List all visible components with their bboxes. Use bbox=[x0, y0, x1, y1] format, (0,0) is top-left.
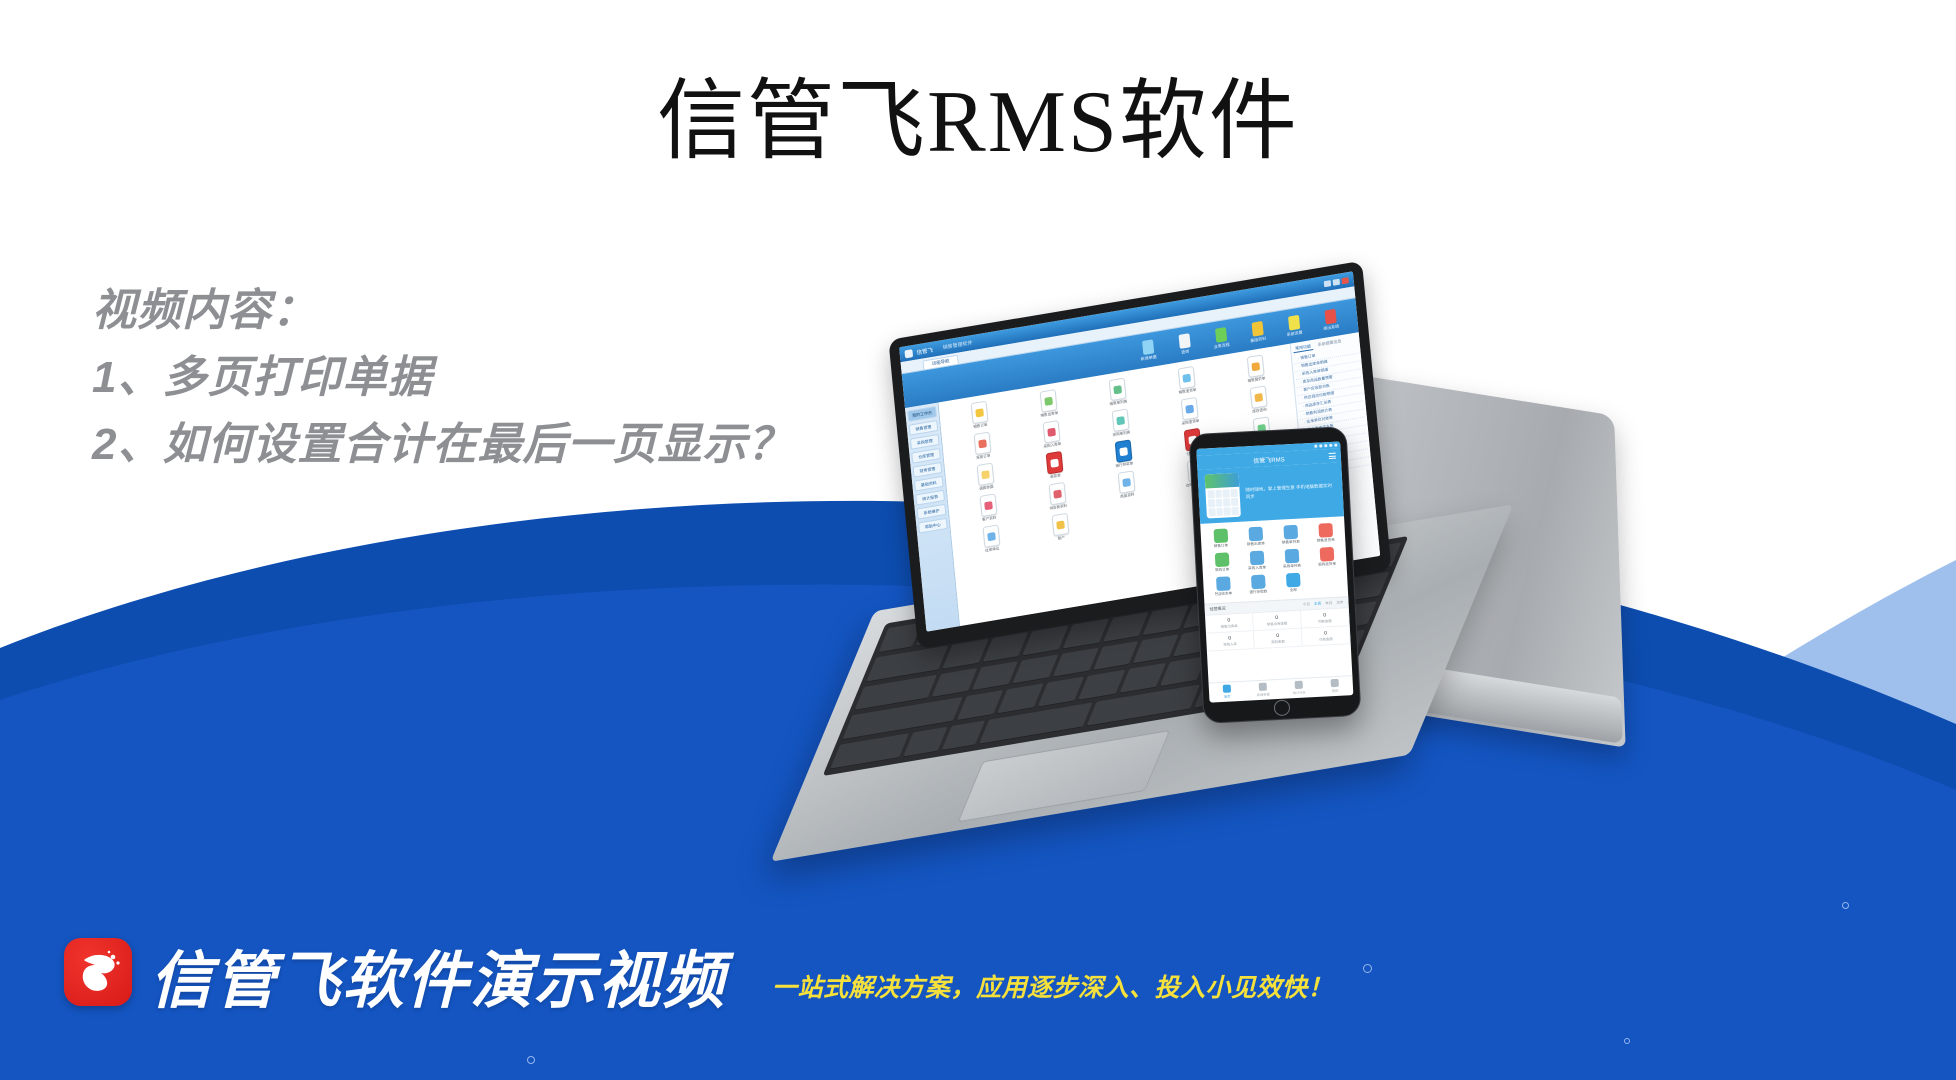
phone-grid-item[interactable]: 全部 bbox=[1275, 572, 1311, 594]
icon-card bbox=[973, 432, 991, 456]
icon-card bbox=[1039, 389, 1057, 413]
icon-card bbox=[1114, 439, 1132, 463]
toolbar-label: 查询 bbox=[1181, 348, 1189, 355]
icon-card bbox=[976, 463, 994, 487]
phone-grid-icon bbox=[1249, 551, 1264, 566]
phone-tab[interactable]: 统计分析 bbox=[1281, 680, 1318, 696]
phone-grid-item[interactable]: 采购退货单 bbox=[1309, 546, 1345, 568]
content-heading: 视频内容： bbox=[92, 278, 792, 345]
phone-tab[interactable]: 我的 bbox=[1317, 678, 1354, 694]
icon-label: 库存查询 bbox=[1252, 407, 1267, 414]
icon-card bbox=[1051, 513, 1069, 537]
stat-cell: 0采购金额 bbox=[1254, 629, 1303, 649]
phone-icon-grid: 销售订单销售出库单销售单列表销售退货单采购订单采购入库单采购单列表采购退货单현금… bbox=[1200, 516, 1348, 603]
phone-grid-label: 销售退货单 bbox=[1317, 538, 1335, 544]
toolbar-button[interactable]: 系统设置 bbox=[1280, 313, 1308, 338]
section-filters[interactable]: 今日本周本月本年 bbox=[1303, 600, 1344, 607]
signal-icon bbox=[1329, 444, 1332, 447]
decorative-dot bbox=[1363, 964, 1372, 973]
toolbar-label: 业务流程 bbox=[1213, 341, 1229, 350]
phone-tab-label: 统计分析 bbox=[1293, 690, 1306, 696]
icon-card bbox=[1249, 385, 1267, 409]
phone-hero: 随时随地，掌上管理生意 手机电脑数据实时同步 bbox=[1197, 462, 1344, 523]
phone-tab-icon bbox=[1331, 679, 1339, 687]
phone-grid-label: 采购退货单 bbox=[1318, 562, 1336, 568]
icon-card bbox=[1180, 397, 1198, 421]
phone-grid-item[interactable]: 采购单列表 bbox=[1274, 548, 1310, 570]
stat-label: 付款金额 bbox=[1302, 635, 1349, 642]
brand-tagline: 一站式解决方案，应用逐步深入、投入小见效快！ bbox=[772, 968, 1333, 1004]
section-filter[interactable]: 今日 bbox=[1303, 602, 1310, 607]
function-icon[interactable]: 往来单位 bbox=[957, 520, 1026, 558]
toolbar-icon bbox=[1178, 333, 1190, 349]
sidebar-item[interactable]: 统计报表 bbox=[915, 490, 945, 506]
phone-grid-label: 采购入库单 bbox=[1248, 565, 1266, 571]
content-item-2: 2、如何设置合计在最后一页显示？ bbox=[92, 412, 792, 479]
icon-label: 客户资料 bbox=[982, 516, 997, 523]
icon-card bbox=[1048, 482, 1066, 506]
bluetooth-icon bbox=[1314, 445, 1317, 448]
function-icon[interactable]: 账户 bbox=[1026, 509, 1095, 547]
phone-grid-item[interactable]: 销售出库单 bbox=[1237, 526, 1273, 548]
icon-card bbox=[1042, 420, 1060, 444]
minimize-icon[interactable] bbox=[1324, 280, 1331, 287]
stat-label: 采购金额 bbox=[1254, 638, 1301, 645]
phone-grid-label: 销售出库单 bbox=[1247, 541, 1265, 547]
icon-label: 收款单 bbox=[1050, 473, 1061, 480]
app-logo-icon bbox=[904, 349, 913, 358]
phone-grid-label: 全部 bbox=[1290, 588, 1297, 593]
sidebar-item[interactable]: 我的工作台 bbox=[907, 406, 937, 422]
stat-label: 回款金额 bbox=[1301, 617, 1348, 624]
icon-card bbox=[1111, 409, 1129, 433]
icon-card bbox=[970, 401, 988, 425]
toolbar-button[interactable]: 新增单据 bbox=[1134, 338, 1162, 363]
toolbar-icon bbox=[1142, 339, 1154, 355]
phone-grid-item[interactable]: 银行存取款 bbox=[1240, 574, 1276, 596]
phone-grid-item[interactable]: 采购入库单 bbox=[1239, 550, 1275, 572]
icon-card bbox=[979, 493, 997, 517]
stat-label: 销售出库单 bbox=[1206, 622, 1253, 629]
sidebar-item[interactable]: 基础资料 bbox=[914, 476, 944, 492]
phone-grid-icon bbox=[1283, 525, 1298, 540]
sidebar-item[interactable]: 仓库管理 bbox=[911, 448, 941, 464]
page-title: 信管飞RMS软件 bbox=[0, 74, 1956, 173]
phone-tab-icon bbox=[1259, 683, 1267, 691]
toolbar-label: 基础资料 bbox=[1250, 335, 1266, 344]
toolbar-icon bbox=[1251, 321, 1263, 337]
phone-grid-icon bbox=[1318, 523, 1333, 538]
phone-grid-icon bbox=[1319, 547, 1334, 562]
phone-bottom-tabs: 首页新增单据统计分析我的 bbox=[1209, 675, 1354, 703]
phone-grid-label: 销售订单 bbox=[1214, 543, 1229, 549]
decorative-dot bbox=[1842, 902, 1849, 909]
hamburger-menu-icon[interactable] bbox=[1329, 453, 1336, 459]
phone-tab-icon bbox=[1223, 684, 1231, 692]
phone-home-button[interactable] bbox=[1274, 699, 1291, 716]
phone-grid-icon bbox=[1213, 528, 1228, 543]
wifi-icon bbox=[1324, 444, 1327, 447]
open-laptop: 信管飞 销售管理软件 功能导航 新增单据查询业务流程基础资料系统设置退出系统 bbox=[860, 300, 1560, 920]
sidebar-item[interactable]: 销售管理 bbox=[909, 420, 939, 436]
toolbar-icon bbox=[1287, 314, 1299, 330]
phone-tab[interactable]: 首页 bbox=[1209, 684, 1246, 700]
app-title: 信管飞 bbox=[916, 345, 933, 356]
toolbar-label: 新增单据 bbox=[1140, 353, 1156, 362]
close-icon[interactable] bbox=[1341, 277, 1348, 284]
icon-label: 销售订单 bbox=[973, 423, 988, 430]
icon-card bbox=[1045, 451, 1063, 475]
icon-card bbox=[1117, 470, 1135, 494]
window-controls[interactable] bbox=[1324, 277, 1349, 287]
video-content-block: 视频内容： 1、多页打印单据 2、如何设置合计在最后一页显示？ bbox=[92, 278, 792, 479]
stat-label: 销售出库金额 bbox=[1253, 620, 1300, 627]
section-filter[interactable]: 本周 bbox=[1314, 601, 1321, 606]
phone-tab-label: 新增单据 bbox=[1257, 691, 1270, 697]
slide-root: 信管飞RMS软件 视频内容： 1、多页打印单据 2、如何设置合计在最后一页显示？ bbox=[0, 0, 1956, 1080]
battery-icon bbox=[1334, 444, 1337, 447]
phone-tab-label: 我的 bbox=[1332, 688, 1339, 693]
brand-logo-icon bbox=[64, 938, 132, 1006]
smartphone: 信管飞RMS 随时随地，掌上管理生意 手机电脑数据实时同步 销售订单销售出库单销… bbox=[1189, 426, 1362, 724]
toolbar-label: 退出系统 bbox=[1323, 323, 1339, 332]
section-title: 经营概况 bbox=[1210, 606, 1226, 613]
stat-label: 采购入库 bbox=[1206, 640, 1253, 647]
phone-tab[interactable]: 新增单据 bbox=[1245, 682, 1282, 698]
icon-label: 往来单位 bbox=[985, 546, 1000, 553]
hero-text: 随时随地，掌上管理生意 手机电脑数据实时同步 bbox=[1245, 483, 1336, 501]
phone-app-title: 信管飞RMS bbox=[1253, 454, 1285, 465]
section-filter[interactable]: 本年 bbox=[1336, 600, 1343, 605]
phone-tab-icon bbox=[1295, 681, 1303, 689]
content-item-1: 1、多页打印单据 bbox=[92, 345, 792, 412]
phone-grid-icon bbox=[1214, 552, 1229, 567]
phone-tab-label: 首页 bbox=[1224, 694, 1231, 699]
phone-screen: 信管飞RMS 随时随地，掌上管理生意 手机电脑数据实时同步 销售订单销售出库单销… bbox=[1196, 441, 1353, 702]
phone-grid-item[interactable]: 销售单列表 bbox=[1272, 524, 1308, 546]
phone-grid-icon bbox=[1250, 575, 1265, 590]
alarm-icon bbox=[1319, 444, 1322, 447]
phone-stats-grid: 0销售出库单0销售出库金额0回款金额0采购入库0采购金额0付款金额 bbox=[1205, 607, 1351, 651]
maximize-icon[interactable] bbox=[1333, 278, 1340, 285]
brand-title: 信管飞软件演示视频 bbox=[150, 930, 726, 1020]
icon-label: 账户 bbox=[1058, 536, 1066, 542]
icon-card bbox=[1246, 354, 1264, 378]
section-filter[interactable]: 本月 bbox=[1325, 601, 1332, 606]
decorative-dot bbox=[1624, 1038, 1630, 1044]
toolbar-button[interactable]: 退出系统 bbox=[1317, 307, 1345, 332]
right-tab-common[interactable]: 常用功能 bbox=[1293, 343, 1313, 353]
toolbar-button[interactable]: 查询 bbox=[1171, 332, 1199, 357]
sidebar-item[interactable]: 系统维护 bbox=[917, 504, 947, 520]
icon-label: 采购订单 bbox=[976, 454, 991, 461]
icon-card bbox=[1177, 366, 1195, 390]
phone-grid-label: 采购订单 bbox=[1215, 567, 1230, 573]
toolbar-icon bbox=[1215, 327, 1227, 343]
phone-grid-label: 采购单列表 bbox=[1283, 564, 1301, 570]
phone-grid-label: 银行存取款 bbox=[1249, 589, 1267, 595]
hero-device-illustration bbox=[1205, 473, 1241, 519]
icon-card bbox=[982, 524, 1000, 548]
sidebar-item[interactable]: 财务管理 bbox=[913, 462, 943, 478]
phone-grid-label: 销售单列表 bbox=[1282, 540, 1300, 546]
app-subtitle: 销售管理软件 bbox=[942, 339, 972, 351]
icon-label: 商品资料 bbox=[1120, 492, 1135, 499]
toolbar-label: 系统设置 bbox=[1286, 329, 1302, 338]
decorative-dot bbox=[527, 1056, 535, 1064]
phone-grid-item[interactable]: 销售退货单 bbox=[1307, 522, 1343, 544]
phone-grid-icon bbox=[1285, 573, 1300, 588]
phone-grid-icon bbox=[1216, 576, 1231, 591]
phone-grid-item[interactable]: 采购订单 bbox=[1204, 552, 1240, 574]
sidebar-item[interactable]: 帮助中心 bbox=[918, 518, 948, 534]
stat-cell: 0付款金额 bbox=[1302, 626, 1351, 646]
icon-card bbox=[1108, 378, 1126, 402]
phone-grid-item[interactable]: 销售订单 bbox=[1203, 528, 1239, 550]
phone-grid-icon bbox=[1248, 527, 1263, 542]
toolbar-button[interactable]: 基础资料 bbox=[1244, 319, 1272, 344]
toolbar-button[interactable]: 业务流程 bbox=[1207, 325, 1235, 350]
stat-cell: 0采购入库 bbox=[1206, 631, 1255, 651]
function-icon[interactable]: 商品资料 bbox=[1092, 466, 1161, 504]
device-mockups: 信管飞 销售管理软件 功能导航 新增单据查询业务流程基础资料系统设置退出系统 bbox=[880, 370, 1956, 950]
toolbar-icon bbox=[1324, 308, 1336, 324]
hero-text-value: 随时随地，掌上管理生意 手机电脑数据实时同步 bbox=[1245, 483, 1332, 499]
phone-grid-icon bbox=[1284, 549, 1299, 564]
phone-grid-item[interactable]: 현금收支单 bbox=[1205, 576, 1241, 598]
icon-label: 调拨单据 bbox=[979, 485, 994, 492]
phone-grid-label: 현금收支单 bbox=[1215, 591, 1233, 597]
sidebar-item[interactable]: 采购管理 bbox=[910, 434, 940, 450]
